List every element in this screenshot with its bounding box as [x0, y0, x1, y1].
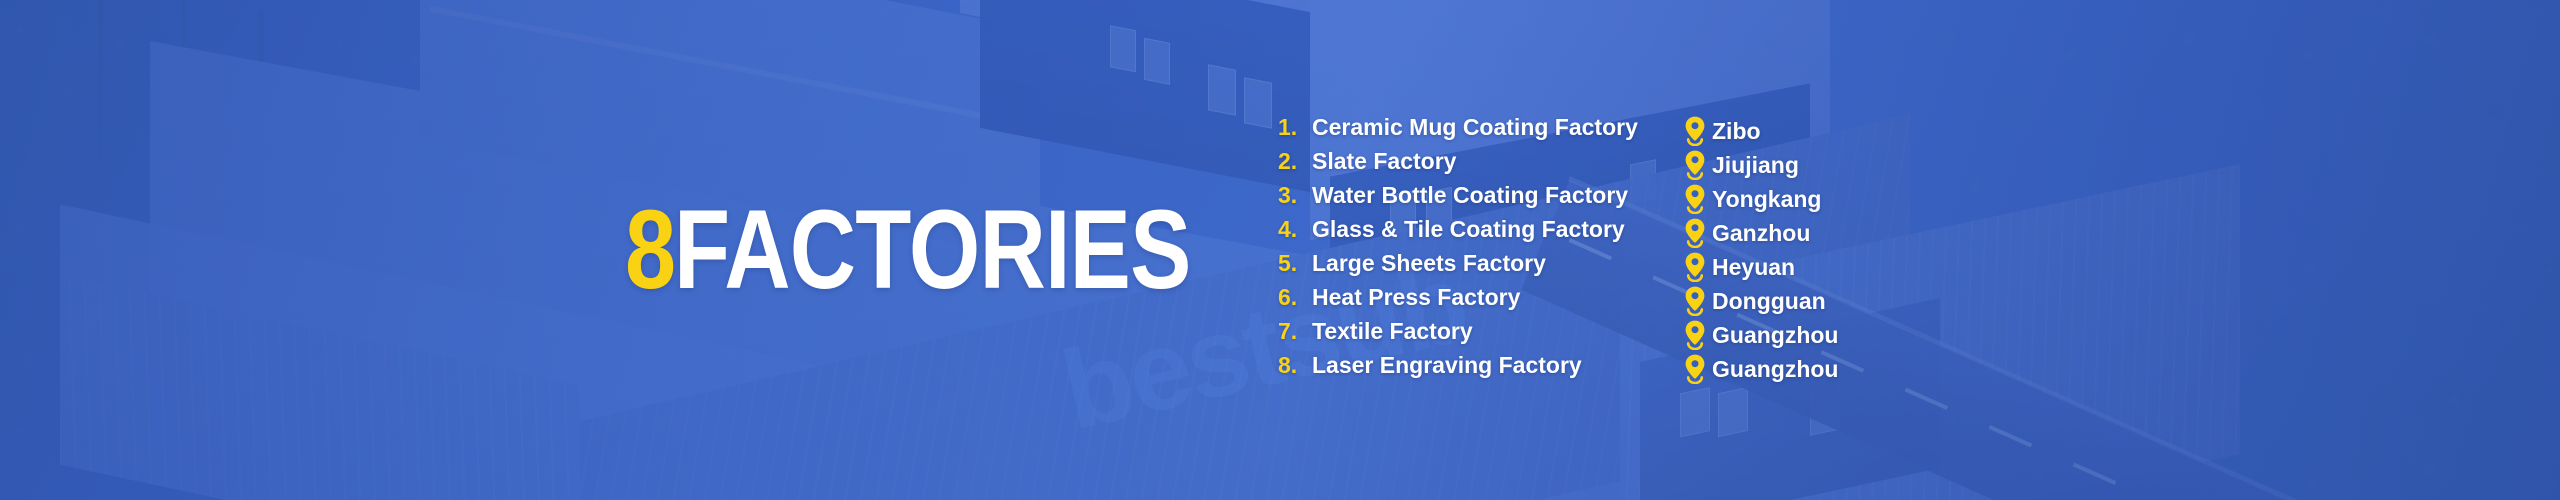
- factory-list: 1.Ceramic Mug Coating Factory2.Slate Fac…: [1278, 114, 1638, 386]
- factory-index: 6.: [1278, 284, 1312, 311]
- map-pin-icon: [1684, 286, 1706, 316]
- location-label: Jiujiang: [1712, 152, 1799, 179]
- location-label: Ganzhou: [1712, 220, 1810, 247]
- factory-list-item: 4.Glass & Tile Coating Factory: [1278, 216, 1638, 250]
- factory-index: 5.: [1278, 250, 1312, 277]
- factory-list-item: 7.Textile Factory: [1278, 318, 1638, 352]
- location-list-item: Dongguan: [1684, 284, 1838, 318]
- factory-index: 8.: [1278, 352, 1312, 379]
- location-list-item: Zibo: [1684, 114, 1838, 148]
- factory-index: 1.: [1278, 114, 1312, 141]
- factory-label: Ceramic Mug Coating Factory: [1312, 114, 1638, 141]
- factory-index: 3.: [1278, 182, 1312, 209]
- page-title: 8 FACTORIES: [625, 197, 1304, 303]
- factory-label: Heat Press Factory: [1312, 284, 1520, 311]
- map-pin-icon: [1684, 184, 1706, 214]
- factory-label: Water Bottle Coating Factory: [1312, 182, 1628, 209]
- location-list-item: Ganzhou: [1684, 216, 1838, 250]
- map-pin-icon: [1684, 354, 1706, 384]
- location-label: Zibo: [1712, 118, 1761, 145]
- factory-list-item: 8.Laser Engraving Factory: [1278, 352, 1638, 386]
- banner-content: 8 FACTORIES 1.Ceramic Mug Coating Factor…: [0, 0, 2560, 500]
- factory-label: Glass & Tile Coating Factory: [1312, 216, 1625, 243]
- location-list-item: Guangzhou: [1684, 318, 1838, 352]
- factory-label: Textile Factory: [1312, 318, 1473, 345]
- factory-list-item: 5.Large Sheets Factory: [1278, 250, 1638, 284]
- location-list: ZiboJiujiangYongkangGanzhouHeyuanDonggua…: [1684, 114, 1838, 386]
- factory-list-item: 1.Ceramic Mug Coating Factory: [1278, 114, 1638, 148]
- location-label: Yongkang: [1712, 186, 1821, 213]
- map-pin-icon: [1684, 218, 1706, 248]
- factory-index: 4.: [1278, 216, 1312, 243]
- map-pin-icon: [1684, 320, 1706, 350]
- factory-index: 2.: [1278, 148, 1312, 175]
- factories-banner: bestsub 8 FACTORIES 1.Ceramic Mug Coatin…: [0, 0, 2560, 500]
- factory-list-item: 3.Water Bottle Coating Factory: [1278, 182, 1638, 216]
- map-pin-icon: [1684, 116, 1706, 146]
- location-label: Guangzhou: [1712, 356, 1838, 383]
- factory-label: Slate Factory: [1312, 148, 1456, 175]
- map-pin-icon: [1684, 150, 1706, 180]
- factory-list-item: 2.Slate Factory: [1278, 148, 1638, 182]
- location-list-item: Jiujiang: [1684, 148, 1838, 182]
- factory-list-item: 6.Heat Press Factory: [1278, 284, 1638, 318]
- location-label: Dongguan: [1712, 288, 1826, 315]
- location-label: Guangzhou: [1712, 322, 1838, 349]
- factory-index: 7.: [1278, 318, 1312, 345]
- location-list-item: Heyuan: [1684, 250, 1838, 284]
- factory-label: Large Sheets Factory: [1312, 250, 1546, 277]
- location-label: Heyuan: [1712, 254, 1795, 281]
- headline-count: 8: [625, 197, 675, 303]
- location-list-item: Yongkang: [1684, 182, 1838, 216]
- headline-word: FACTORIES: [674, 197, 1191, 303]
- map-pin-icon: [1684, 252, 1706, 282]
- location-list-item: Guangzhou: [1684, 352, 1838, 386]
- factory-label: Laser Engraving Factory: [1312, 352, 1582, 379]
